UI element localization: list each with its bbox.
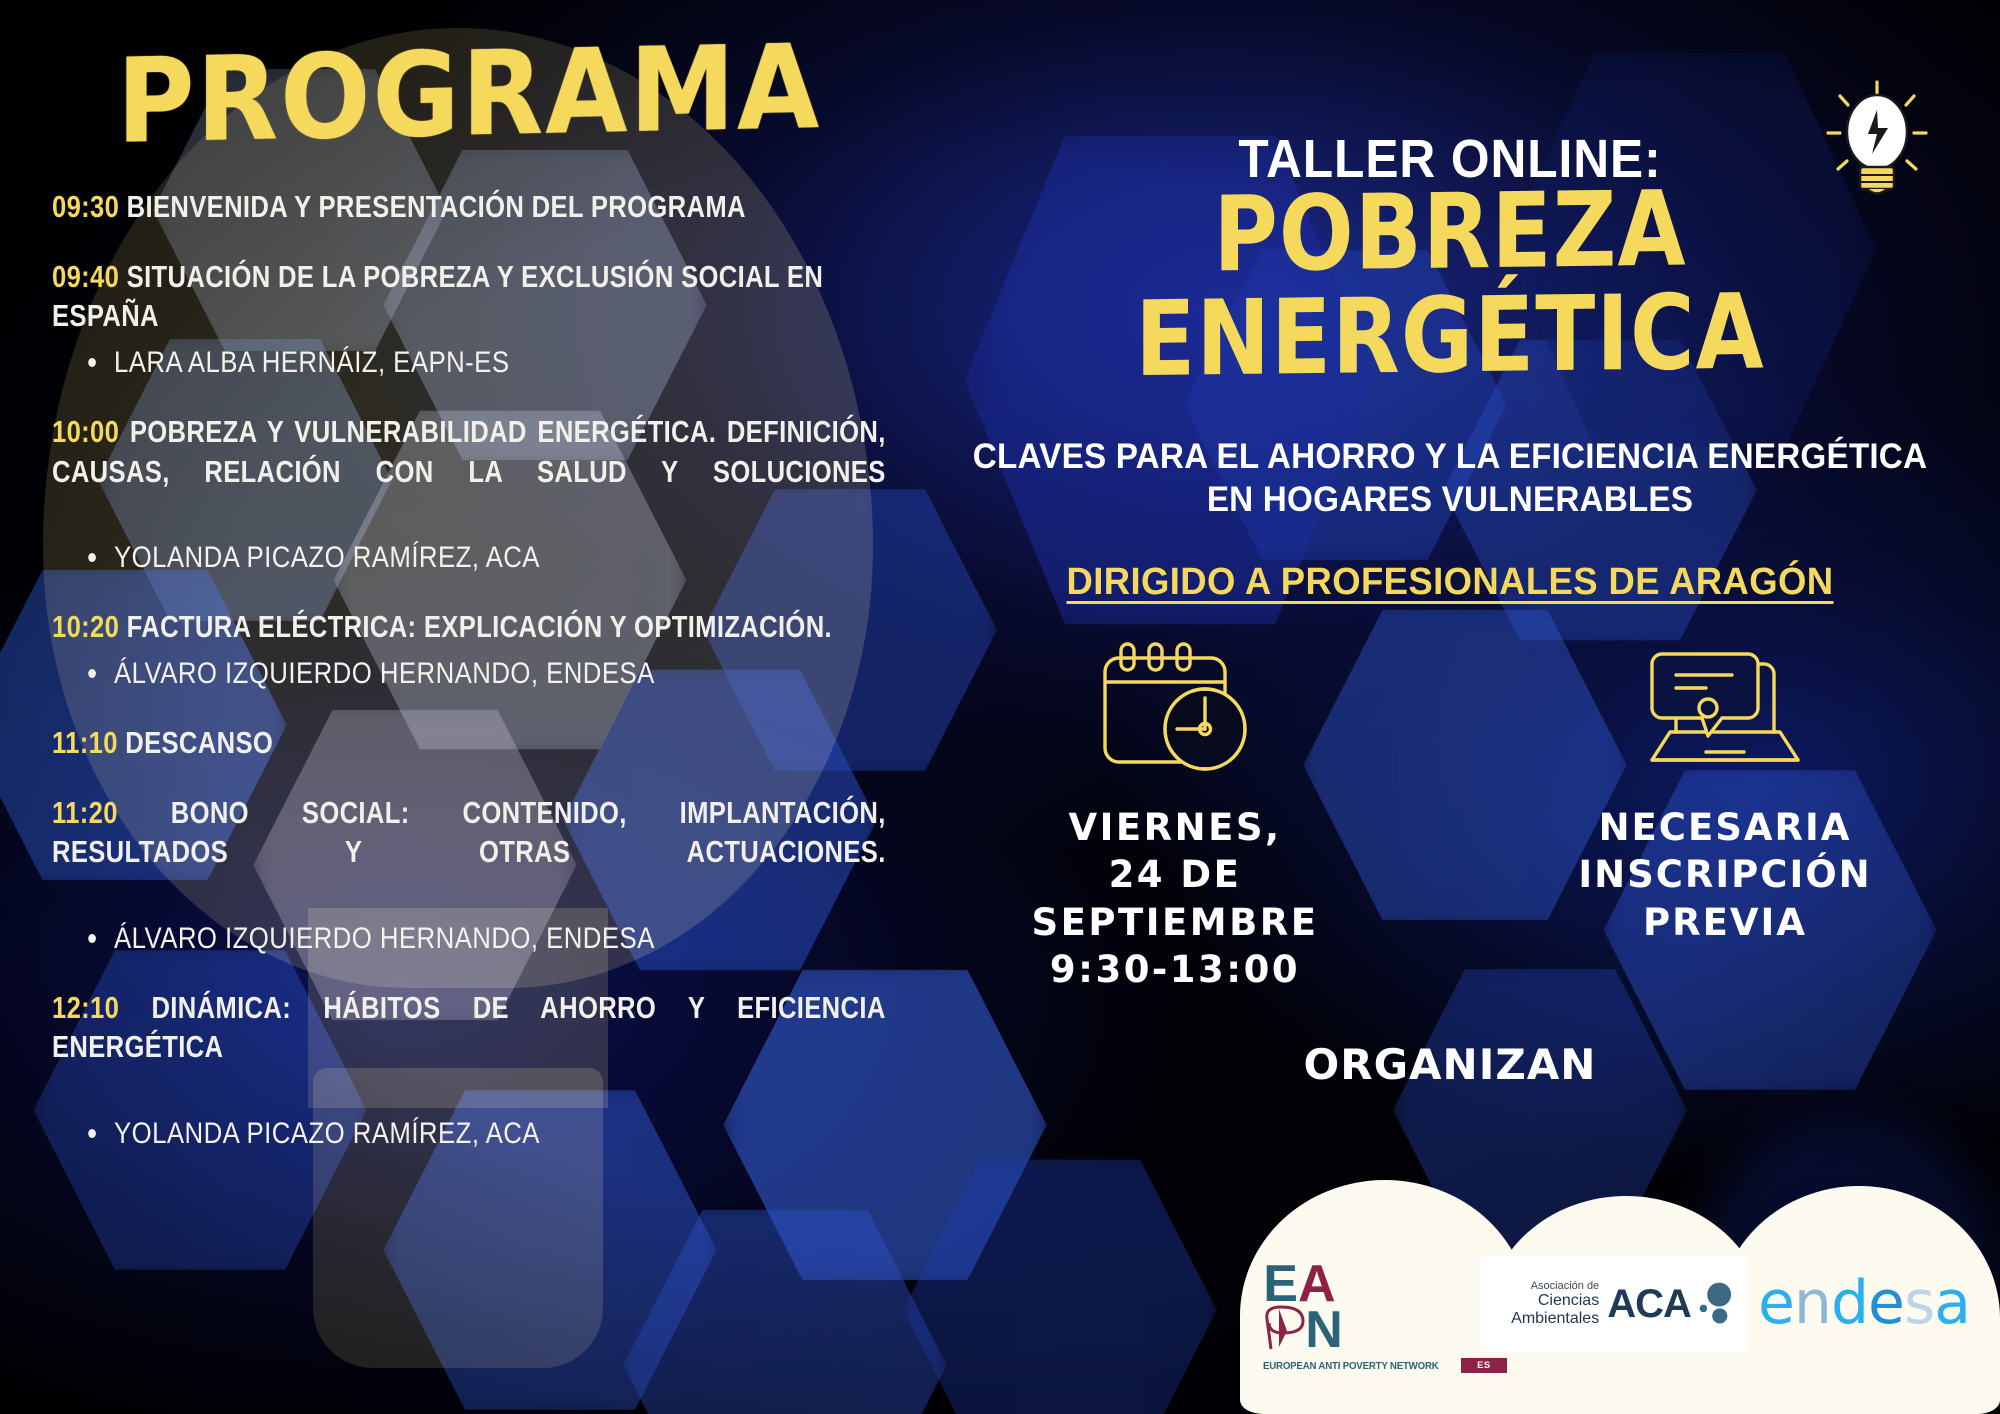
- speaker-list: ÁLVARO IZQUIERDO HERNANDO, ENDESA: [52, 919, 886, 959]
- schedule-entry: 11:10 DESCANSO: [52, 724, 886, 764]
- schedule-time: 12:10: [52, 991, 119, 1025]
- schedule-time: 10:00: [52, 415, 119, 449]
- speaker-list: LARA ALBA HERNÁIZ, EAPN-ES: [52, 343, 886, 383]
- bullet-icon: [88, 1129, 96, 1138]
- speaker-item: YOLANDA PICAZO RAMÍREZ, ACA: [114, 1114, 884, 1154]
- info-line: PREVIA: [1450, 899, 2000, 946]
- speaker-list: YOLANDA PICAZO RAMÍREZ, ACA: [52, 538, 886, 578]
- bullet-icon: [88, 358, 96, 367]
- info-line: NECESARIA: [1450, 804, 2000, 851]
- subtitle-line-2: EN HOGARES VULNERABLES: [928, 479, 1973, 522]
- eapn-logo: E A N: [1292, 1252, 1478, 1384]
- schedule-list: 09:30 BIENVENIDA Y PRESENTACIÓN DEL PROG…: [44, 188, 894, 1154]
- schedule-topic: DINÁMICA: HÁBITOS DE AHORRO Y EFICIENCIA…: [52, 991, 886, 1065]
- registration-info-block: NECESARIAINSCRIPCIÓNPREVIA: [1450, 630, 2000, 993]
- schedule-topic: SITUACIÓN DE LA POBREZA Y EXCLUSIÓN SOCI…: [52, 260, 823, 334]
- schedule-time: 09:30: [52, 190, 119, 224]
- aca-logo: Asociación de Ciencias Ambientales ACA: [1508, 1258, 1720, 1350]
- aca-line-2: Ciencias Ambientales: [1495, 1292, 1599, 1327]
- schedule-entry: 09:30 BIENVENIDA Y PRESENTACIÓN DEL PROG…: [52, 188, 886, 228]
- schedule-item: 12:10 DINÁMICA: HÁBITOS DE AHORRO Y EFIC…: [52, 989, 886, 1154]
- schedule-entry: 09:40 SITUACIÓN DE LA POBREZA Y EXCLUSIÓ…: [52, 258, 886, 337]
- speaker-list: ÁLVARO IZQUIERDO HERNANDO, ENDESA: [52, 654, 886, 694]
- info-line: 9:30-13:00: [900, 946, 1450, 993]
- schedule-item: 10:00 POBREZA Y VULNERABILIDAD ENERGÉTIC…: [52, 413, 886, 578]
- date-text: VIERNES,24 DESEPTIEMBRE9:30-13:00: [900, 804, 1450, 993]
- speaker-name: ÁLVARO IZQUIERDO HERNANDO, ENDESA: [114, 922, 655, 955]
- info-row: VIERNES,24 DESEPTIEMBRE9:30-13:00: [900, 630, 2000, 993]
- speaker-name: ÁLVARO IZQUIERDO HERNANDO, ENDESA: [114, 657, 655, 690]
- speaker-name: LARA ALBA HERNÁIZ, EAPN-ES: [114, 346, 509, 379]
- bullet-icon: [88, 553, 96, 562]
- speaker-name: YOLANDA PICAZO RAMÍREZ, ACA: [114, 541, 540, 574]
- schedule-topic: BIENVENIDA Y PRESENTACIÓN DEL PROGRAMA: [119, 190, 746, 224]
- info-line: SEPTIEMBRE: [900, 899, 1450, 946]
- aca-acronym: ACA: [1607, 1282, 1691, 1327]
- endesa-logo: endesa: [1740, 1258, 1988, 1348]
- speaker-item: LARA ALBA HERNÁIZ, EAPN-ES: [114, 343, 884, 383]
- schedule-item: 09:30 BIENVENIDA Y PRESENTACIÓN DEL PROG…: [52, 188, 886, 228]
- schedule-time: 11:20: [52, 796, 118, 830]
- info-line: INSCRIPCIÓN: [1450, 851, 2000, 898]
- schedule-time: 10:20: [52, 610, 119, 644]
- bullet-icon: [88, 669, 96, 678]
- bullet-icon: [88, 934, 96, 943]
- schedule-entry: 10:00 POBREZA Y VULNERABILIDAD ENERGÉTIC…: [52, 413, 886, 532]
- laptop-chat-icon: [1450, 630, 2000, 780]
- programa-column: PROGRAMA 09:30 BIENVENIDA Y PRESENTACIÓN…: [44, 22, 894, 1392]
- schedule-item: 10:20 FACTURA ELÉCTRICA: EXPLICACIÓN Y O…: [52, 608, 886, 694]
- event-subtitle: CLAVES PARA EL AHORRO Y LA EFICIENCIA EN…: [928, 436, 1973, 521]
- subtitle-line-1: CLAVES PARA EL AHORRO Y LA EFICIENCIA EN…: [928, 436, 1973, 479]
- target-audience: DIRIGIDO A PROFESIONALES DE ARAGÓN: [922, 561, 1978, 604]
- schedule-topic: BONO SOCIAL: CONTENIDO, IMPLANTACIÓN, RE…: [52, 796, 886, 870]
- schedule-entry: 10:20 FACTURA ELÉCTRICA: EXPLICACIÓN Y O…: [52, 608, 886, 648]
- schedule-time: 11:10: [52, 726, 118, 760]
- endesa-wordmark: endesa: [1758, 1268, 1970, 1338]
- calendar-clock-icon: [900, 630, 1450, 780]
- schedule-item: 11:10 DESCANSO: [52, 724, 886, 764]
- speaker-name: YOLANDA PICAZO RAMÍREZ, ACA: [114, 1117, 540, 1150]
- schedule-item: 11:20 BONO SOCIAL: CONTENIDO, IMPLANTACI…: [52, 794, 886, 959]
- schedule-topic: DESCANSO: [118, 726, 273, 760]
- schedule-entry: 12:10 DINÁMICA: HÁBITOS DE AHORRO Y EFIC…: [52, 989, 886, 1108]
- schedule-item: 09:40 SITUACIÓN DE LA POBREZA Y EXCLUSIÓ…: [52, 258, 886, 383]
- organizers-label: ORGANIZAN: [900, 1040, 2000, 1089]
- speaker-item: YOLANDA PICAZO RAMÍREZ, ACA: [114, 538, 884, 578]
- schedule-topic: FACTURA ELÉCTRICA: EXPLICACIÓN Y OPTIMIZ…: [119, 610, 832, 644]
- speaker-item: ÁLVARO IZQUIERDO HERNANDO, ENDESA: [114, 919, 884, 959]
- eapn-tagline: EUROPEAN ANTI POVERTY NETWORK: [1263, 1360, 1439, 1372]
- eapn-letter-n: N: [1305, 1301, 1343, 1359]
- eapn-swirl-icon: [1263, 1301, 1309, 1351]
- aca-circles-icon: [1699, 1272, 1733, 1336]
- programa-heading: PROGRAMA: [36, 27, 903, 162]
- date-info-block: VIERNES,24 DESEPTIEMBRE9:30-13:00: [900, 630, 1450, 993]
- event-title: POBREZA ENERGÉTICA: [900, 173, 2000, 394]
- info-line: 24 DE: [900, 851, 1450, 898]
- info-line: VIERNES,: [900, 804, 1450, 851]
- speaker-list: YOLANDA PICAZO RAMÍREZ, ACA: [52, 1114, 886, 1154]
- schedule-time: 09:40: [52, 260, 119, 294]
- organizer-logos: E A N: [1240, 1180, 2000, 1414]
- aca-line-1: Asociación de: [1495, 1280, 1599, 1292]
- eapn-country-badge: ES: [1461, 1358, 1507, 1373]
- schedule-entry: 11:20 BONO SOCIAL: CONTENIDO, IMPLANTACI…: [52, 794, 886, 913]
- poster-canvas: PROGRAMA 09:30 BIENVENIDA Y PRESENTACIÓN…: [0, 0, 2000, 1414]
- registration-text: NECESARIAINSCRIPCIÓNPREVIA: [1450, 804, 2000, 946]
- speaker-item: ÁLVARO IZQUIERDO HERNANDO, ENDESA: [114, 654, 884, 694]
- schedule-topic: POBREZA Y VULNERABILIDAD ENERGÉTICA. DEF…: [52, 415, 886, 489]
